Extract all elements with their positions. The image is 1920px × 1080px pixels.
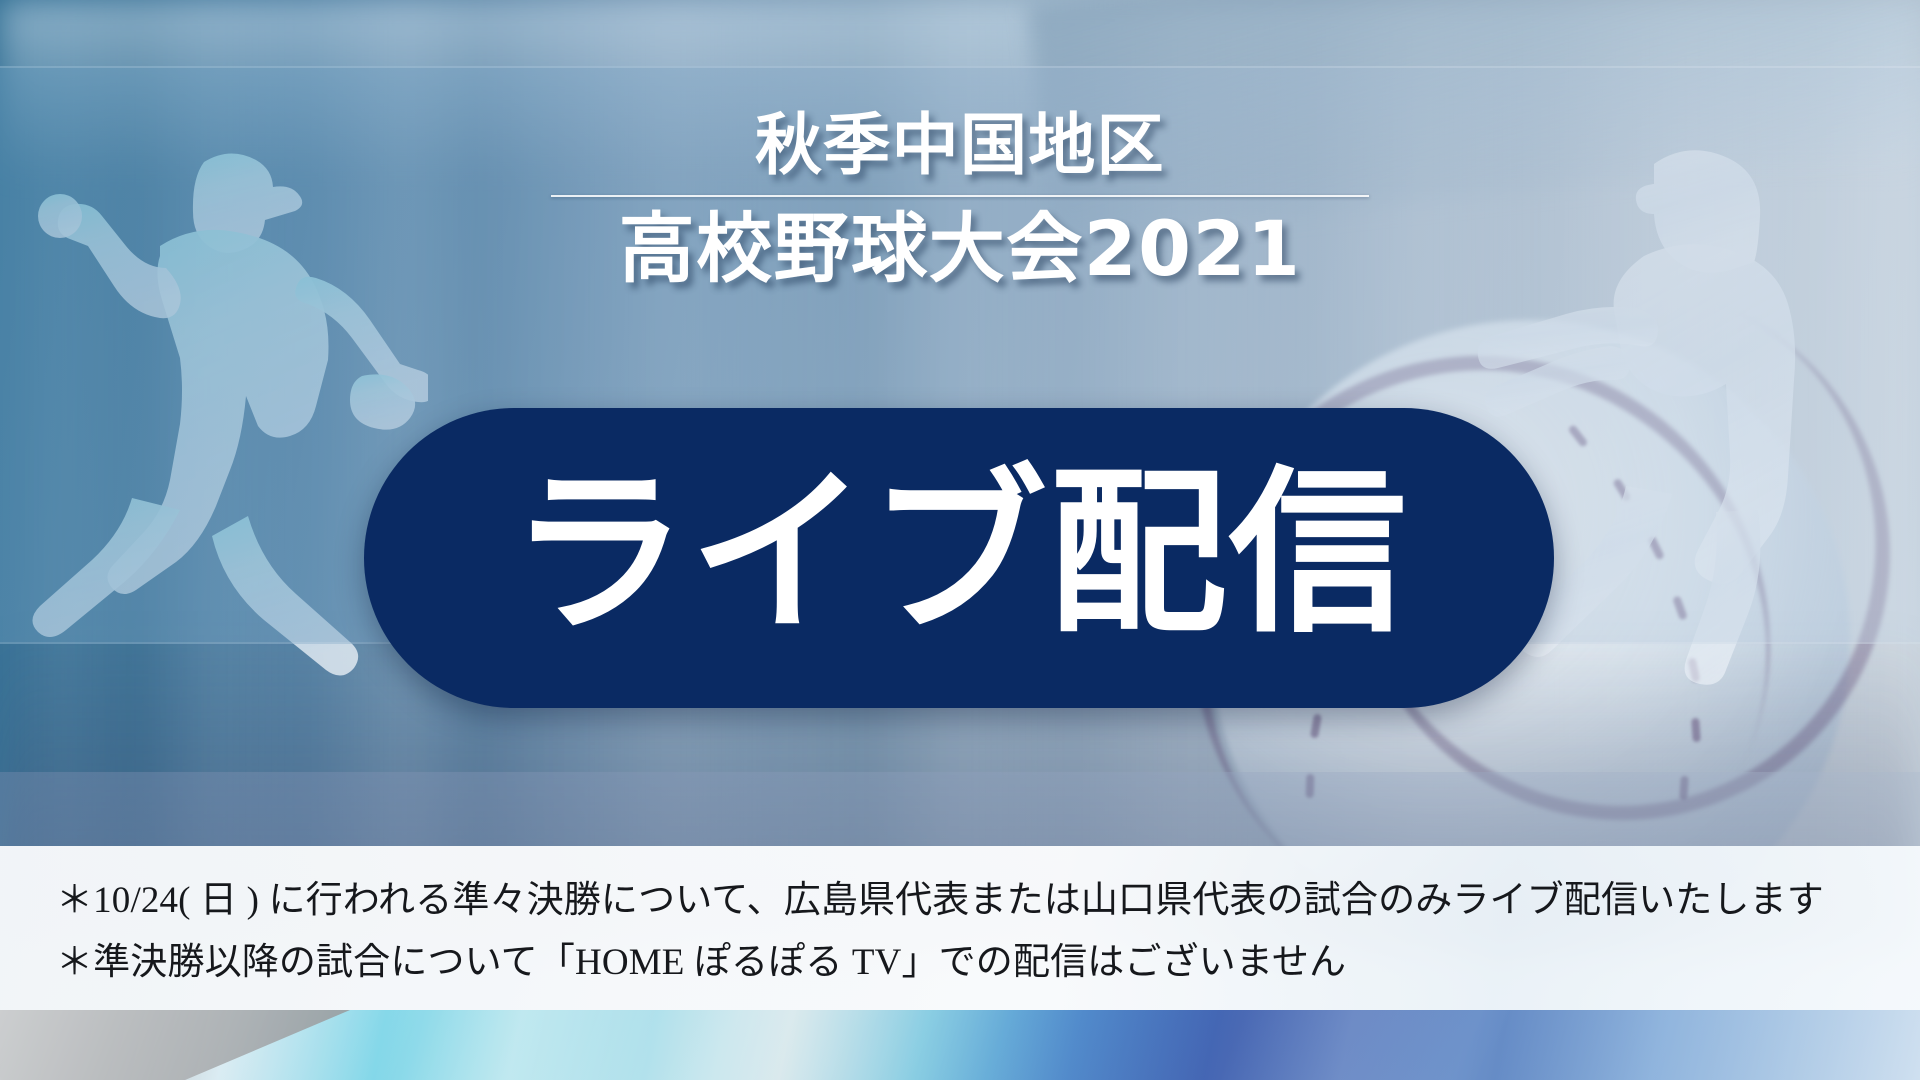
live-stream-badge[interactable]: ライブ配信 xyxy=(364,408,1554,708)
title-line-1: 秋季中国地区 xyxy=(749,112,1171,191)
live-stream-poster: 秋季中国地区 高校野球大会2021 ライブ配信 ＊10/24( 日 ) に行われ… xyxy=(0,0,1920,1080)
title-band-top-edge xyxy=(0,66,1920,68)
note-line-2: ＊準決勝以降の試合について「HOME ぽるぽる TV」での配信はございません xyxy=(56,932,1920,994)
note-line-1: ＊10/24( 日 ) に行われる準々決勝について、広島県代表または山口県代表の… xyxy=(56,870,1920,932)
title-line-2: 高校野球大会2021 xyxy=(613,207,1308,287)
title-divider xyxy=(551,195,1369,197)
lower-tint-band xyxy=(0,772,1920,846)
poster-title: 秋季中国地区 高校野球大会2021 xyxy=(0,112,1920,287)
bottom-photo-strip xyxy=(0,1010,1920,1080)
bottom-strip-sheen xyxy=(0,1010,1920,1080)
live-stream-badge-label: ライブ配信 xyxy=(510,465,1409,643)
notes-panel: ＊10/24( 日 ) に行われる準々決勝について、広島県代表または山口県代表の… xyxy=(0,846,1920,1010)
